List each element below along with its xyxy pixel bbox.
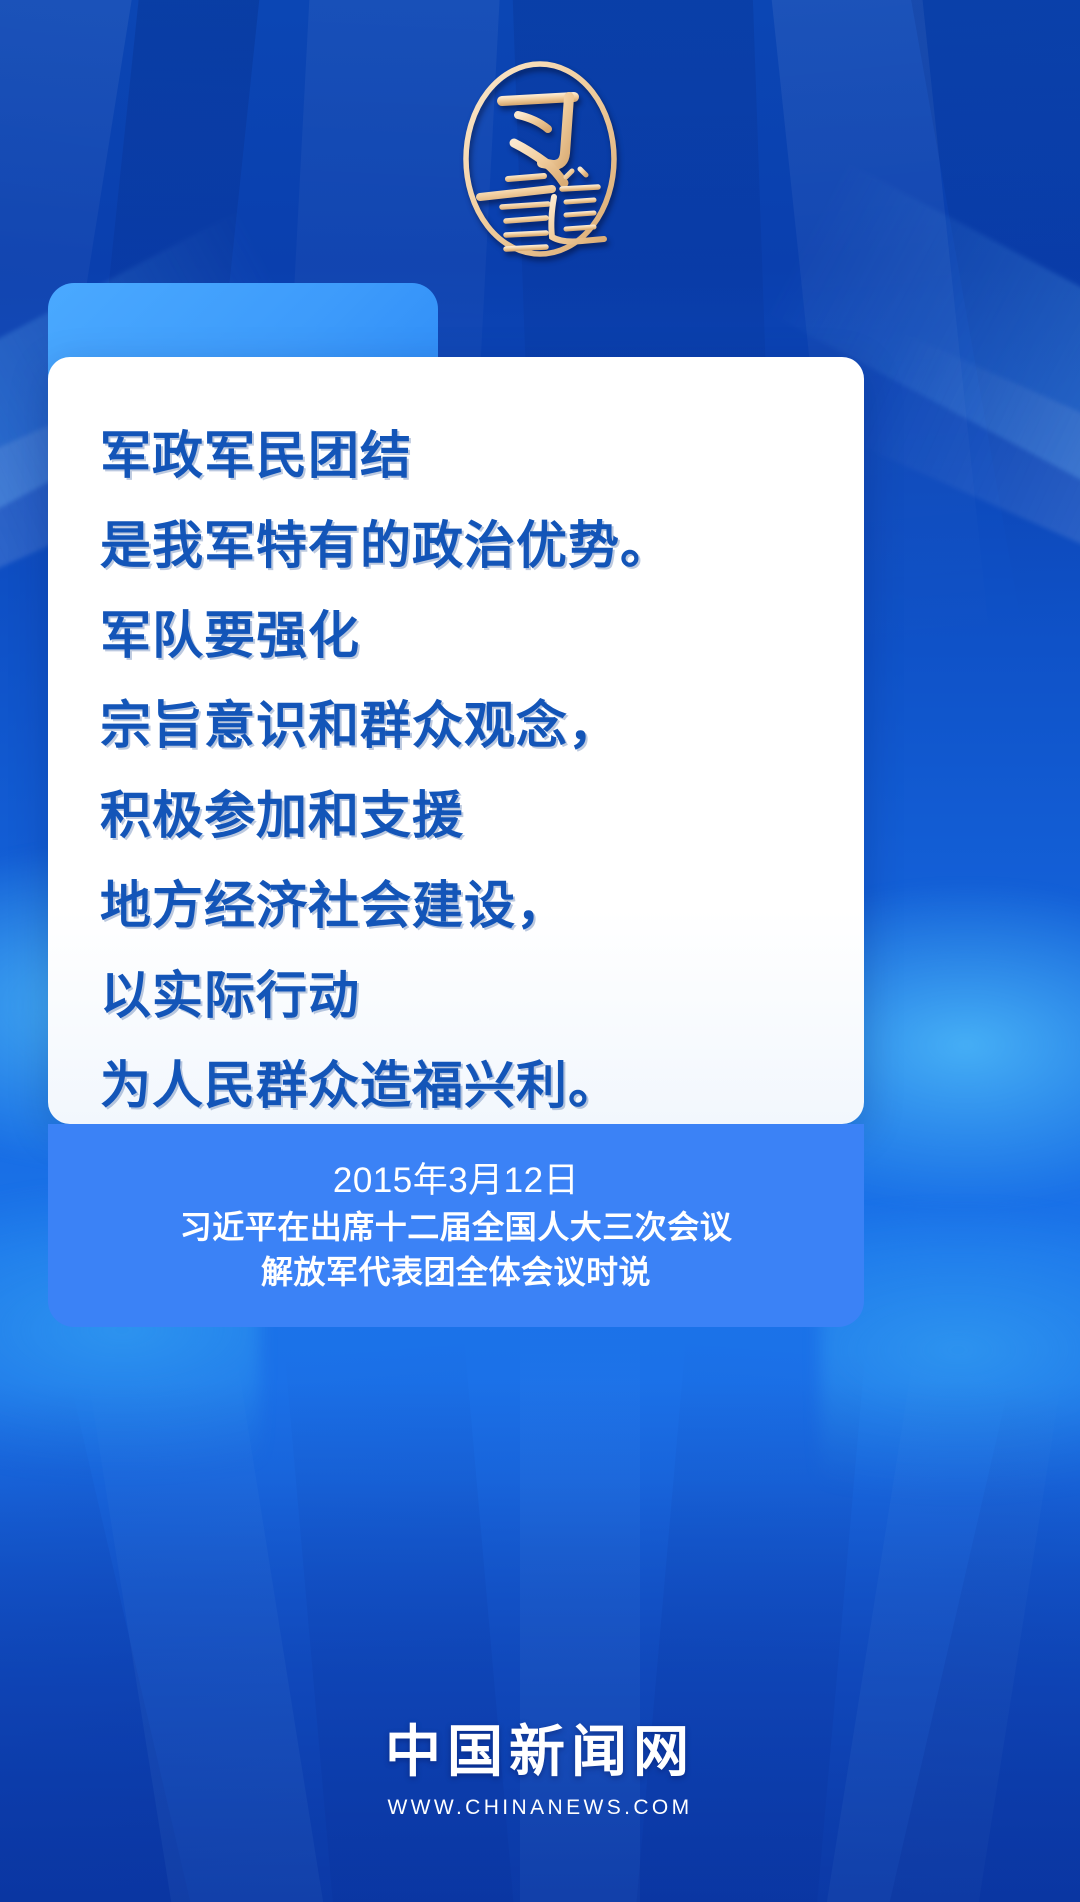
quote-source-line-2: 解放军代表团全体会议时说 [261, 1250, 651, 1295]
quote-line: 地方经济社会建设， [100, 861, 824, 951]
quote-line: 军队要强化 [100, 591, 824, 681]
site-brand: 中国新闻网 WWW.CHINANEWS.COM [0, 1707, 1080, 1820]
poster-root: 军政军民团结 是我军特有的政治优势。 军队要强化 宗旨意识和群众观念， 积极参加… [0, 0, 1080, 1902]
brand-name: 中国新闻网 [0, 1707, 1080, 1788]
bottom-gradient-wash [0, 1382, 1080, 1902]
seal-logo [0, 52, 1080, 267]
side-glow [840, 880, 1080, 1210]
seal-logo-icon [456, 57, 624, 262]
quote-text-block: 军政军民团结 是我军特有的政治优势。 军队要强化 宗旨意识和群众观念， 积极参加… [100, 411, 824, 1131]
quote-line: 积极参加和支援 [100, 771, 824, 861]
quote-line: 军政军民团结 [100, 411, 824, 501]
brand-url: WWW.CHINANEWS.COM [0, 1796, 1080, 1820]
quote-line: 为人民群众造福兴利。 [100, 1041, 824, 1131]
attribution-box: 2015年3月12日 习近平在出席十二届全国人大三次会议 解放军代表团全体会议时… [48, 1124, 864, 1327]
quote-line: 宗旨意识和群众观念， [100, 681, 824, 771]
quote-source-line-1: 习近平在出席十二届全国人大三次会议 [180, 1205, 733, 1250]
quote-date: 2015年3月12日 [333, 1157, 579, 1205]
quote-line: 以实际行动 [100, 951, 824, 1041]
quote-line: 是我军特有的政治优势。 [100, 501, 824, 591]
quote-card: 军政军民团结 是我军特有的政治优势。 军队要强化 宗旨意识和群众观念， 积极参加… [48, 357, 864, 1124]
